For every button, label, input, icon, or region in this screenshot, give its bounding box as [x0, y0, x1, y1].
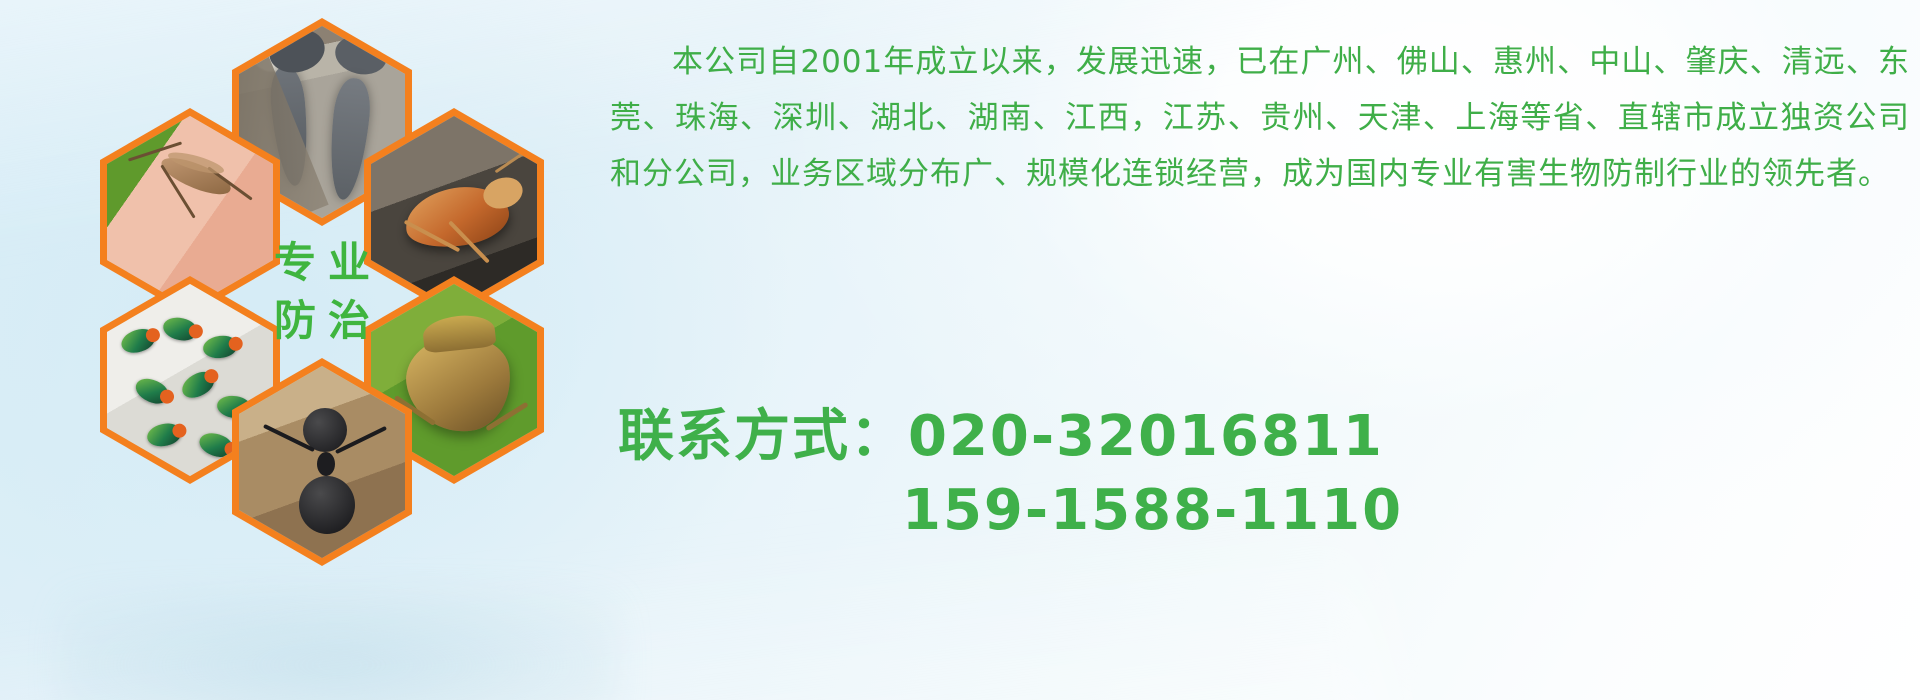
hexagon-photo-collage: 专业 防治: [84, 8, 584, 564]
contact-block: 联系方式：020-32016811 159-1588-1110: [618, 400, 1918, 548]
slogan-text: 专业 防治: [239, 196, 405, 388]
slogan-line-2: 防治: [262, 300, 382, 342]
company-description-block: 本公司自2001年成立以来，发展迅速，已在广州、佛山、惠州、中山、肇庆、清远、东…: [610, 34, 1910, 202]
contact-phone-landline[interactable]: 联系方式：020-32016811: [618, 400, 1918, 474]
hex-inner-center: 专业 防治: [239, 196, 405, 388]
light-glow-bottom-left: [60, 590, 620, 700]
slogan-line-1: 专业: [262, 242, 382, 284]
company-description-text: 本公司自2001年成立以来，发展迅速，已在广州、佛山、惠州、中山、肇庆、清远、东…: [610, 34, 1910, 202]
pest-control-banner: 专业 防治 本公司自2001年成立以来，发展迅速，已在广州、佛山、惠州、中山、肇…: [0, 0, 1920, 700]
contact-phone-mobile[interactable]: 159-1588-1110: [618, 474, 1918, 548]
